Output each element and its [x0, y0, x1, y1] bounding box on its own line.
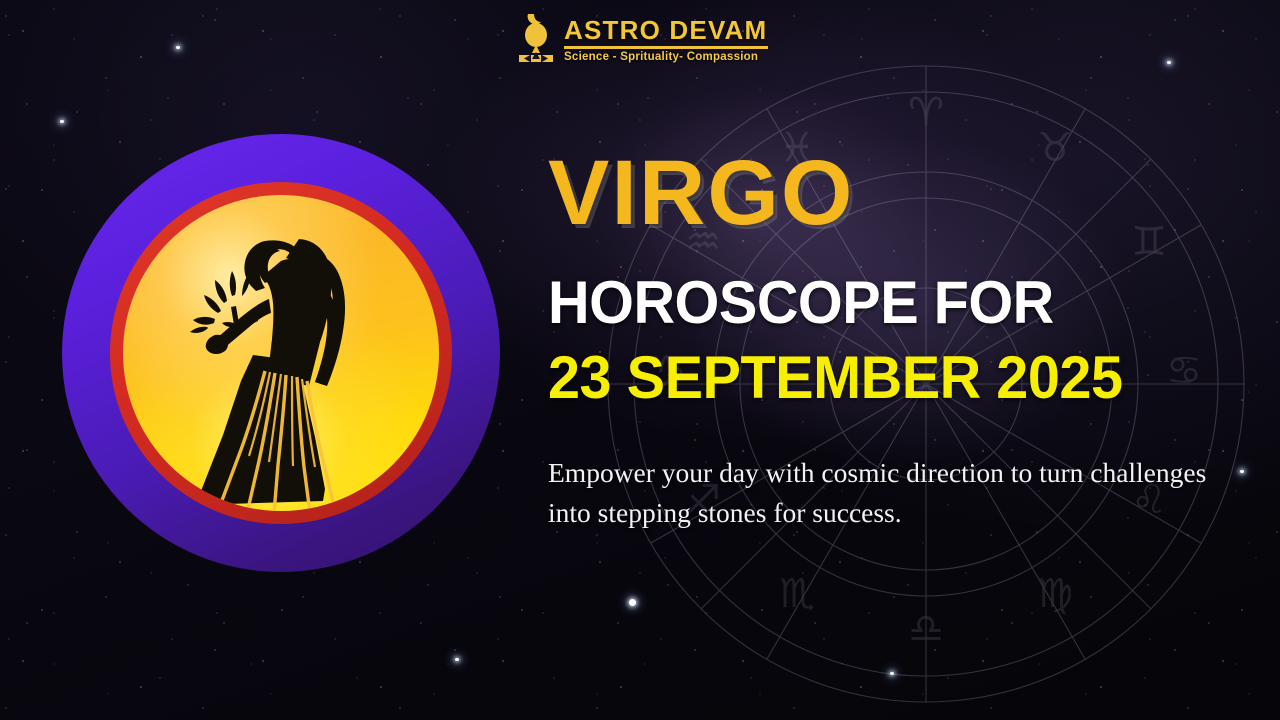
headline: HOROSCOPE FOR — [548, 272, 1232, 333]
bright-star — [176, 46, 180, 49]
horoscope-banner: ♈ ♉ ♊ ♋ ♌ ♍ ♎ ♏ ♐ ♑ ♒ ♓ — [0, 0, 1280, 720]
zodiac-sign-title: VIRGO — [548, 148, 1260, 238]
brand-tagline: Science - Sprituality- Compassion — [564, 52, 768, 64]
brand-divider — [564, 46, 768, 49]
brand-logo[interactable]: ASTRO DEVAM Science - Sprituality- Compa… — [516, 8, 778, 70]
bright-star — [60, 120, 64, 123]
brand-name: ASTRO DEVAM — [564, 17, 768, 43]
virgo-zodiac-emblem — [62, 150, 500, 550]
dateline: 23 SEPTEMBER 2025 — [548, 347, 1232, 408]
bright-star — [629, 599, 636, 606]
bright-star — [1167, 61, 1171, 64]
copy-block: VIRGO HOROSCOPE FOR 23 SEPTEMBER 2025 Em… — [548, 148, 1260, 533]
astro-devam-logo-icon — [516, 11, 556, 67]
virgo-maiden-icon — [123, 195, 439, 511]
bright-star — [890, 672, 894, 675]
emblem-gold-disc — [123, 195, 439, 511]
bright-star — [455, 658, 459, 661]
tagline: Empower your day with cosmic direction t… — [548, 453, 1238, 533]
